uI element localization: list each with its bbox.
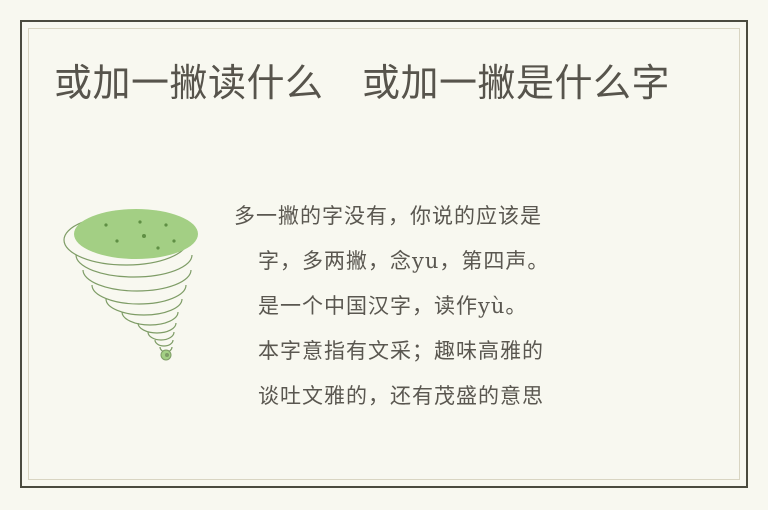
- page-title: 或加一撇读什么 或加一撇是什么字: [54, 58, 694, 111]
- answer-line-2: 字，多两撇，念yu，第四声。: [234, 239, 714, 284]
- answer-line-5: 谈吐文雅的，还有茂盛的意思: [234, 374, 714, 419]
- answer-line-1: 多一撇的字没有，你说的应该是: [234, 194, 714, 239]
- page-root: 或加一撇读什么 或加一撇是什么字: [0, 0, 768, 510]
- tornado-icon: [54, 198, 214, 363]
- answer-line-3: 是一个中国汉字，读作yù。: [234, 284, 714, 329]
- answer-text: 多一撇的字没有，你说的应该是 字，多两撇，念yu，第四声。 是一个中国汉字，读作…: [234, 194, 714, 419]
- answer-line-4: 本字意指有文采；趣味高雅的: [234, 329, 714, 374]
- content-area: 多一撇的字没有，你说的应该是 字，多两撇，念yu，第四声。 是一个中国汉字，读作…: [54, 190, 714, 419]
